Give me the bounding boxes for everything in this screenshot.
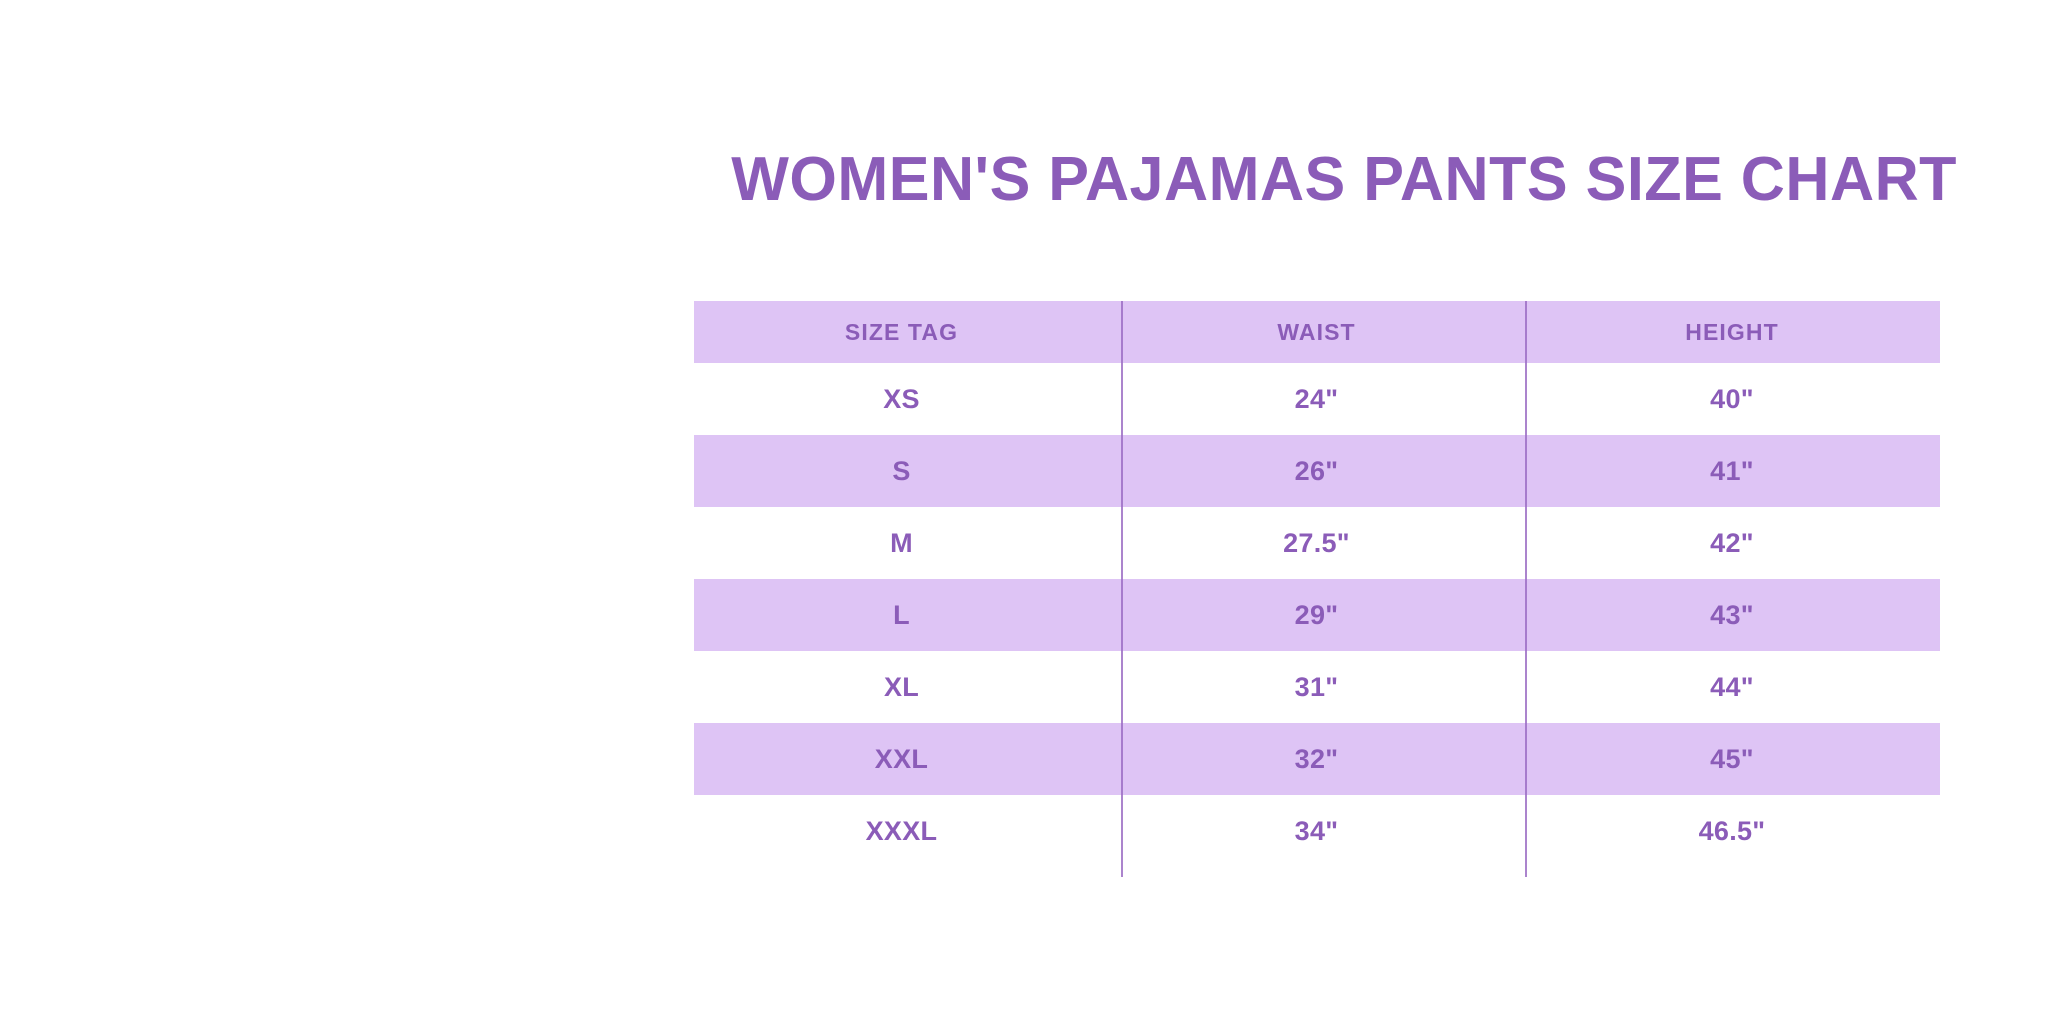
cell-waist: 29" <box>1109 579 1524 651</box>
cell-size-tag: XXXL <box>694 795 1109 867</box>
table-row: XXXL 34" 46.5" <box>694 795 1940 867</box>
table-body: XS 24" 40" S 26" 41" M 27.5" 42" L 29" <box>694 363 1940 867</box>
table-row: XXL 32" 45" <box>694 723 1940 795</box>
cell-waist: 31" <box>1109 651 1524 723</box>
size-chart-table-container: SIZE TAG WAIST HEIGHT XS 24" 40" S 26" 4… <box>694 301 1940 867</box>
table-header: SIZE TAG WAIST HEIGHT <box>694 301 1940 363</box>
table-row: XS 24" 40" <box>694 363 1940 435</box>
column-header-size-tag: SIZE TAG <box>694 301 1109 363</box>
cell-waist: 27.5" <box>1109 507 1524 579</box>
cell-size-tag: M <box>694 507 1109 579</box>
table-header-row: SIZE TAG WAIST HEIGHT <box>694 301 1940 363</box>
cell-height: 45" <box>1524 723 1940 795</box>
cell-size-tag: XXL <box>694 723 1109 795</box>
table-row: M 27.5" 42" <box>694 507 1940 579</box>
table-row: L 29" 43" <box>694 579 1940 651</box>
size-chart-table: SIZE TAG WAIST HEIGHT XS 24" 40" S 26" 4… <box>694 301 1940 867</box>
cell-height: 46.5" <box>1524 795 1940 867</box>
cell-height: 40" <box>1524 363 1940 435</box>
cell-height: 41" <box>1524 435 1940 507</box>
cell-size-tag: XL <box>694 651 1109 723</box>
cell-size-tag: L <box>694 579 1109 651</box>
table-row: XL 31" 44" <box>694 651 1940 723</box>
table-row: S 26" 41" <box>694 435 1940 507</box>
column-divider-line-2 <box>1525 301 1527 877</box>
cell-size-tag: XS <box>694 363 1109 435</box>
column-header-height: HEIGHT <box>1524 301 1940 363</box>
cell-waist: 26" <box>1109 435 1524 507</box>
cell-size-tag: S <box>694 435 1109 507</box>
size-chart-page: WOMEN'S PAJAMAS PANTS SIZE CHART SIZE TA… <box>0 0 2048 1024</box>
column-header-waist: WAIST <box>1109 301 1524 363</box>
page-title: WOMEN'S PAJAMAS PANTS SIZE CHART <box>694 145 1994 215</box>
cell-height: 42" <box>1524 507 1940 579</box>
cell-height: 43" <box>1524 579 1940 651</box>
cell-height: 44" <box>1524 651 1940 723</box>
column-divider-line-1 <box>1121 301 1123 877</box>
cell-waist: 32" <box>1109 723 1524 795</box>
cell-waist: 24" <box>1109 363 1524 435</box>
cell-waist: 34" <box>1109 795 1524 867</box>
